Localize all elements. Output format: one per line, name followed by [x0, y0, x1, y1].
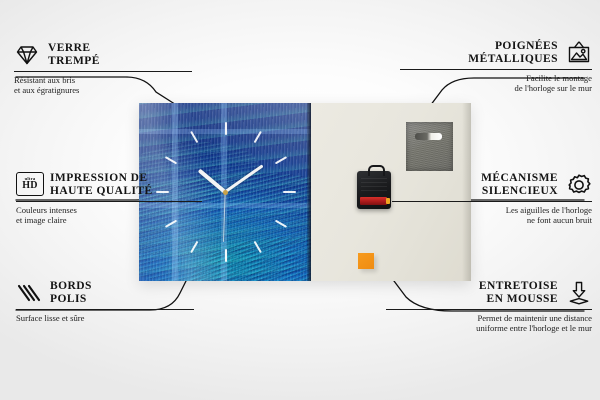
product-infographic: VERRE TREMPÉ Résistant aux bris et aux é… [0, 0, 600, 400]
polished-edges-icon [16, 280, 42, 306]
wall-mount-frame-icon [566, 40, 592, 66]
hour-tick [254, 131, 262, 143]
divider [16, 201, 202, 202]
feature-poignees-metalliques: POIGNÉES MÉTALLIQUES Facilite le montage… [400, 40, 592, 94]
mechanism-hanging-loop [368, 165, 385, 176]
hour-tick [190, 241, 198, 253]
diamond-icon [14, 42, 40, 68]
ultra-hd-badge-icon: ultra HD [16, 172, 42, 198]
metal-hanger-plate [406, 122, 453, 171]
hour-tick [225, 122, 227, 135]
feature-bords-polis: BORDS POLIS Surface lisse et sûre [16, 280, 194, 323]
feature-subtitle: Permet de maintenir une distance uniform… [386, 313, 592, 334]
gear-icon [566, 172, 592, 198]
hour-tick [190, 131, 198, 143]
arrow-down-layers-icon [566, 280, 592, 306]
divider [392, 201, 592, 202]
feature-title: VERRE TREMPÉ [48, 42, 100, 68]
keyhole-slot [415, 133, 442, 140]
feature-subtitle: Les aiguilles de l'horloge ne font aucun… [392, 205, 592, 226]
feature-title: IMPRESSION DE HAUTE QUALITÉ [50, 172, 153, 198]
ultra-hd-badge-main-text: HD [22, 181, 37, 191]
divider [386, 309, 592, 310]
clock-second-hand [223, 192, 226, 242]
hour-tick [254, 241, 262, 253]
hour-tick [283, 191, 296, 193]
feature-title: BORDS POLIS [50, 280, 92, 306]
divider [14, 71, 192, 72]
feature-verre-trempe: VERRE TREMPÉ Résistant aux bris et aux é… [14, 42, 192, 96]
feature-title: MÉCANISME SILENCIEUX [481, 172, 558, 198]
foam-spacer [358, 253, 374, 269]
clock-minute-hand [224, 164, 263, 193]
divider [400, 69, 592, 70]
feature-subtitle: Facilite le montage de l'horloge sur le … [400, 73, 592, 94]
feature-subtitle: Surface lisse et sûre [16, 313, 194, 323]
feature-impression-haute-qualite: ultra HD IMPRESSION DE HAUTE QUALITÉ Cou… [16, 172, 202, 226]
feature-title: ENTRETOISE EN MOUSSE [479, 280, 558, 306]
feature-subtitle: Résistant aux bris et aux égratignures [14, 75, 192, 96]
hour-tick [165, 156, 177, 164]
hour-tick [275, 220, 287, 228]
feature-entretoise-en-mousse: ENTRETOISE EN MOUSSE Permet de maintenir… [386, 280, 592, 334]
battery [360, 197, 387, 205]
feature-mecanisme-silencieux: MÉCANISME SILENCIEUX Les aiguilles de l'… [392, 172, 592, 226]
divider [16, 309, 194, 310]
clock-mechanism [357, 171, 391, 209]
feature-subtitle: Couleurs intenses et image claire [16, 205, 202, 226]
clock-center-hub [223, 190, 228, 195]
hour-tick [275, 156, 287, 164]
mechanism-housing-detail [361, 176, 387, 191]
hour-tick [225, 249, 227, 262]
feature-title: POIGNÉES MÉTALLIQUES [468, 40, 558, 66]
